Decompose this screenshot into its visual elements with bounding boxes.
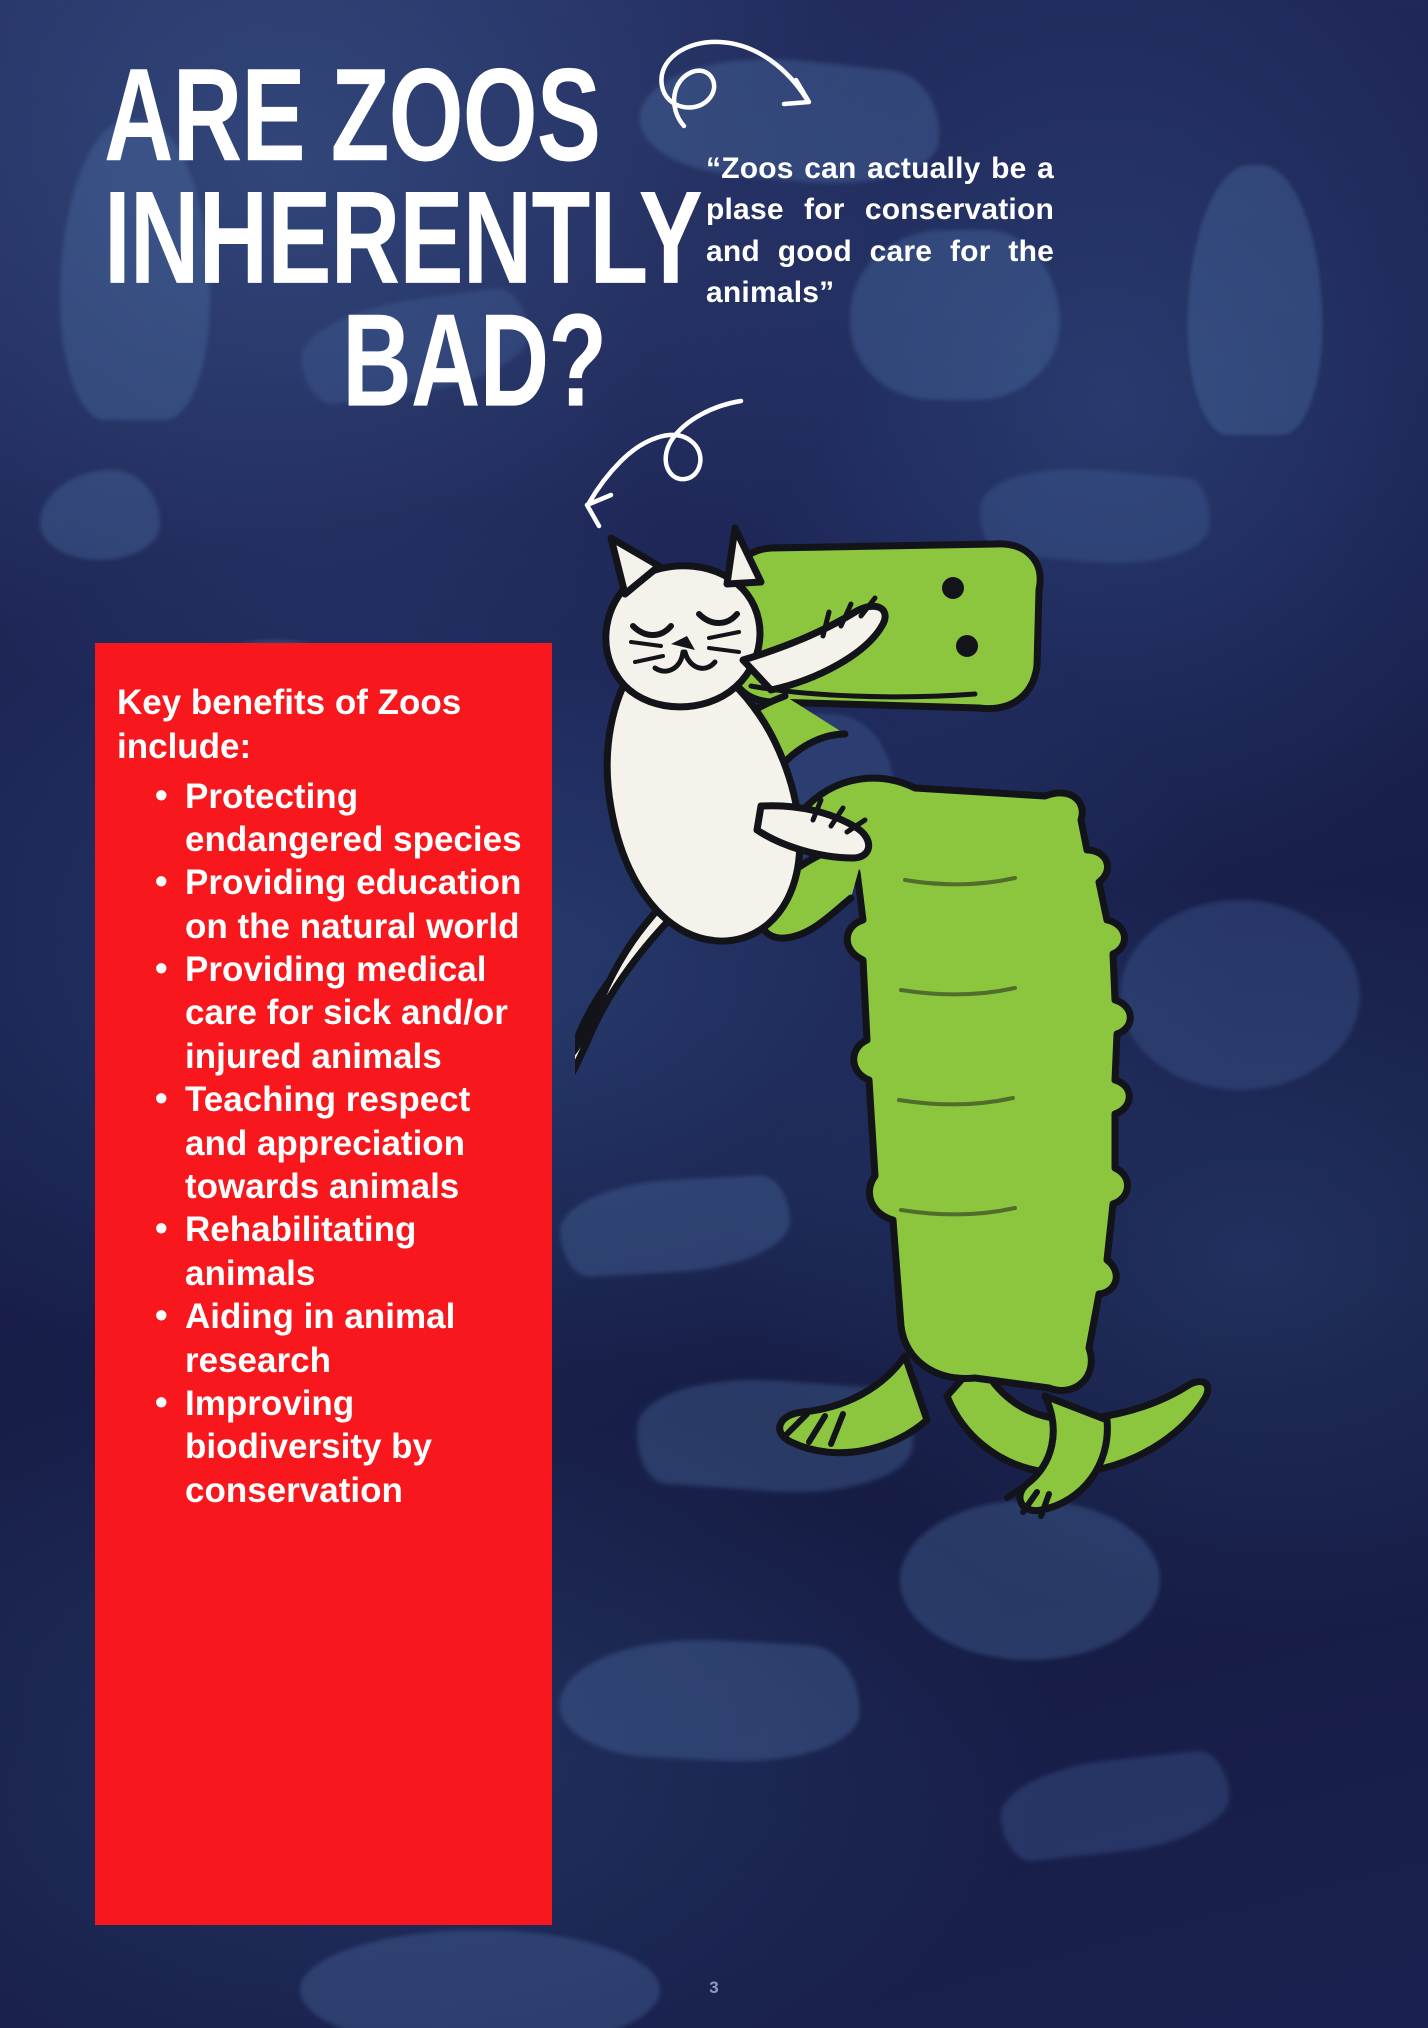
list-item: Teaching respect and appreciation toward…	[113, 1078, 534, 1208]
headline-line-2: INHERENTLY	[104, 177, 637, 300]
page-number: 3	[0, 1978, 1428, 1998]
list-item: Providing education on the natural world	[113, 861, 534, 948]
poster-page: ARE ZOOS INHERENTLY BAD? “Zoos can actua…	[0, 0, 1428, 2028]
list-item: Aiding in animal research	[113, 1295, 534, 1382]
list-heading: Key benefits of Zoos include:	[113, 681, 534, 769]
pull-quote: “Zoos can actually be a plase for conser…	[706, 148, 1054, 314]
benefits-list: Protecting endangered species Providing …	[113, 775, 534, 1513]
page-title: ARE ZOOS INHERENTLY BAD?	[104, 54, 637, 423]
list-item: Rehabilitating animals	[113, 1208, 534, 1295]
curly-arrow-icon-middle	[565, 395, 800, 535]
list-item: Improving biodiversity by conservation	[113, 1382, 534, 1512]
curly-arrow-icon-top	[610, 30, 840, 140]
list-item: Protecting endangered species	[113, 775, 534, 862]
crocodile-hugging-cat-illustration	[575, 520, 1275, 1530]
list-item: Providing medical care for sick and/or i…	[113, 948, 534, 1078]
headline-line-1: ARE ZOOS	[104, 54, 637, 177]
headline-line-3: BAD?	[104, 300, 637, 423]
key-benefits-box: Key benefits of Zoos include: Protecting…	[95, 643, 552, 1925]
